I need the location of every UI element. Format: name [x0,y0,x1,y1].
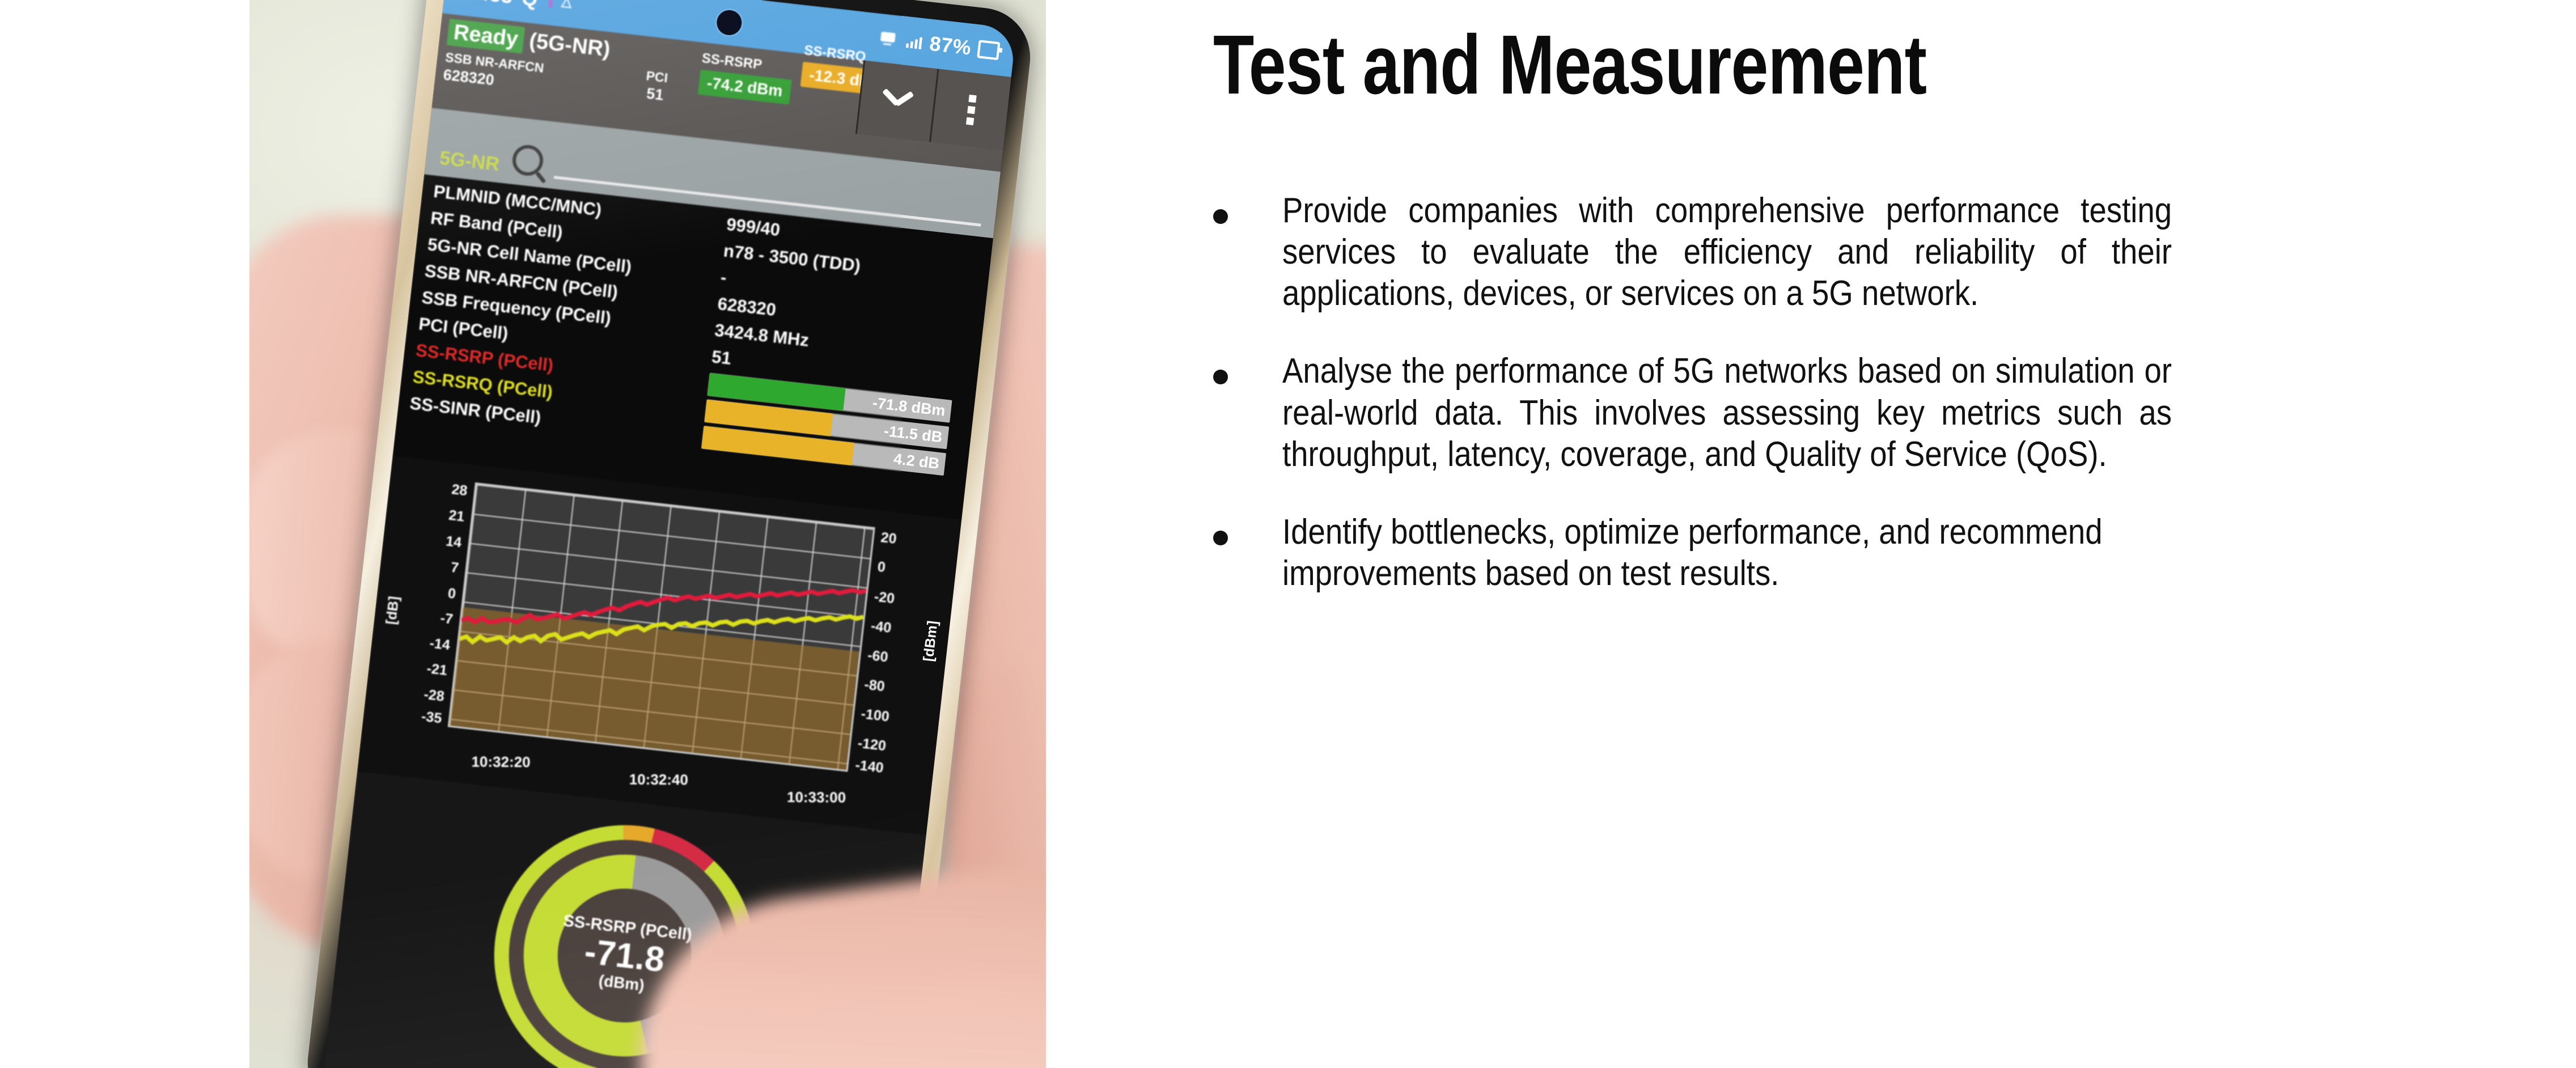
list-item: Provide companies with comprehensive per… [1213,190,2293,314]
chevron-down-icon [880,91,914,112]
y-tick: 28 [451,481,468,499]
y-tick: -140 [854,757,884,776]
kpi-ss-rsrp: SS-RSRP -74.2 dBm [693,50,794,147]
bullet-text: Identify bottlenecks, optimize performan… [1282,511,2172,594]
y-tick: -20 [873,588,895,607]
signal-timeseries-chart: [dB] 28 21 14 7 0 -7 -14 -21 -28 -35 [357,456,961,836]
status-time: 10:33 [458,0,514,9]
status-q-indicator: Q [520,0,539,11]
bullet-dot-icon [1213,209,1228,224]
y-tick: -120 [857,735,887,755]
y-tick: -7 [439,610,454,628]
bullet-text: Provide companies with comprehensive per… [1282,190,2172,314]
x-tick: 10:33:00 [787,789,846,807]
param-value: 51 [710,346,732,369]
search-icon[interactable] [511,143,545,177]
warning-triangle-icon [561,0,573,10]
y-tick: 0 [876,559,886,576]
y-tick: 14 [445,533,463,551]
y-tick: 21 [448,507,465,525]
collapse-button[interactable] [855,61,938,142]
param-value: 999/40 [726,214,781,240]
y-tick: -14 [429,635,451,654]
y-tick: 20 [880,529,897,548]
y-tick: -80 [863,676,885,695]
slide-text-panel: Test and Measurement Provide companies w… [1046,0,2576,1068]
chart-series-lines [450,484,873,770]
x-tick: 10:32:20 [471,753,530,771]
overflow-menu-button[interactable] [929,69,1011,150]
y-axis-label-left: [dB] [383,595,402,625]
y-tick: 7 [450,560,460,577]
y-tick: 0 [447,585,457,602]
bullet-dot-icon [1213,531,1228,545]
pci-value: 51 [646,85,664,104]
list-item: Analyse the performance of 5G networks b… [1213,350,2293,474]
phone-photo: 10:33 Q 87% [249,0,1046,1068]
pci-label: PCI [645,68,668,86]
x-tick: 10:32:40 [629,771,688,789]
gauge-value: -71.8 [583,933,667,978]
status-badge: Ready [447,19,525,54]
param-value: 4.2 dB [893,450,946,473]
chart-plot-area [448,482,875,772]
battery-percent: 87% [929,32,973,60]
kebab-menu-icon [965,94,976,125]
page-title: Test and Measurement [1213,17,1926,113]
y-tick: -100 [860,706,890,725]
sim-icon [545,0,557,9]
y-tick: -28 [423,686,445,705]
y-tick: -40 [870,618,892,637]
y-tick: -35 [421,709,443,727]
battery-icon [977,40,1000,60]
bullet-list: Provide companies with comprehensive per… [1213,190,2293,630]
y-axis-label-right: [dBm] [920,620,941,662]
y-tick: -60 [867,647,889,666]
network-mode-label: (5G-NR) [528,29,611,62]
tab-5g-nr[interactable]: 5G-NR [438,147,500,176]
signal-bars-icon [905,33,924,50]
y-tick: -21 [426,661,448,680]
param-value: -11.5 dB [883,422,949,446]
bullet-dot-icon [1213,370,1228,384]
vpn-key-icon [879,30,900,48]
bullet-text: Analyse the performance of 5G networks b… [1282,350,2172,474]
list-item: Identify bottlenecks, optimize performan… [1213,511,2293,594]
